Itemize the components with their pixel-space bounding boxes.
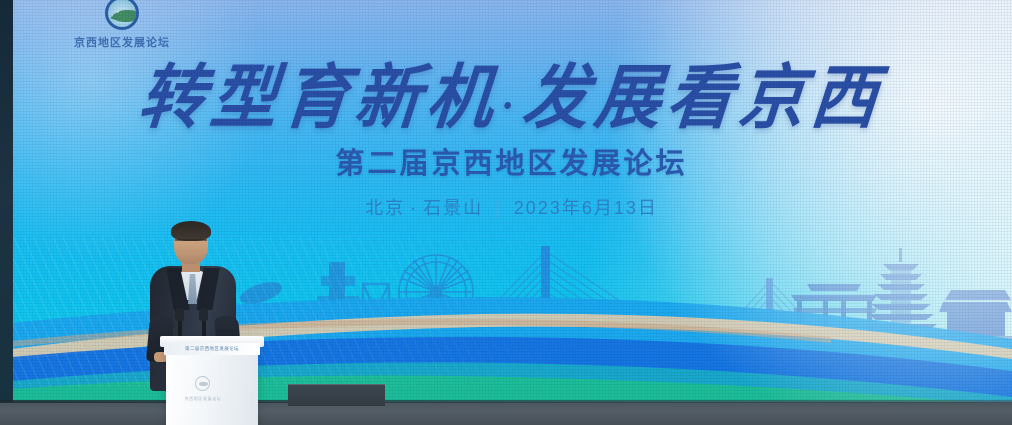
stage-floor-equipment-box — [288, 384, 385, 406]
speaker-glasses — [175, 239, 207, 246]
forum-circular-emblem — [105, 0, 139, 30]
event-meta-line: 北京·石景山|2023年6月13日 — [11, 194, 1012, 220]
meta-dot: · — [405, 198, 423, 218]
headline-calligraphy: 转型育新机·发展看京西 — [11, 41, 1012, 143]
speaker-at-podium: 第二届京西地区发展论坛 京西地区发展论坛 — [148, 224, 256, 425]
conference-stage-scene: 京西地区发展论坛 转型育新机·发展看京西 第二届京西地区发展论坛 北京·石景山|… — [0, 0, 1012, 425]
speaker-hair — [171, 221, 211, 241]
meta-city: 北京 — [365, 198, 405, 218]
podium-sub-text: 京西地区发展论坛 — [178, 396, 228, 402]
podium-banner: 第二届京西地区发展论坛 — [164, 343, 260, 355]
microphone-head-right — [199, 308, 208, 321]
meta-separator: | — [483, 198, 514, 218]
meta-date: 2023年6月13日 — [514, 198, 658, 218]
subheadline: 第二届京西地区发展论坛 — [11, 140, 1012, 182]
podium-banner-text: 第二届京西地区发展论坛 — [185, 346, 239, 352]
headline-part1: 转型育新机 — [136, 60, 503, 137]
podium-circular-emblem — [195, 376, 210, 391]
hall-left-pillar — [0, 0, 13, 425]
microphone-head-left — [175, 308, 184, 321]
headline-part2: 发展看京西 — [520, 60, 887, 137]
meta-district: 石景山 — [423, 198, 483, 218]
